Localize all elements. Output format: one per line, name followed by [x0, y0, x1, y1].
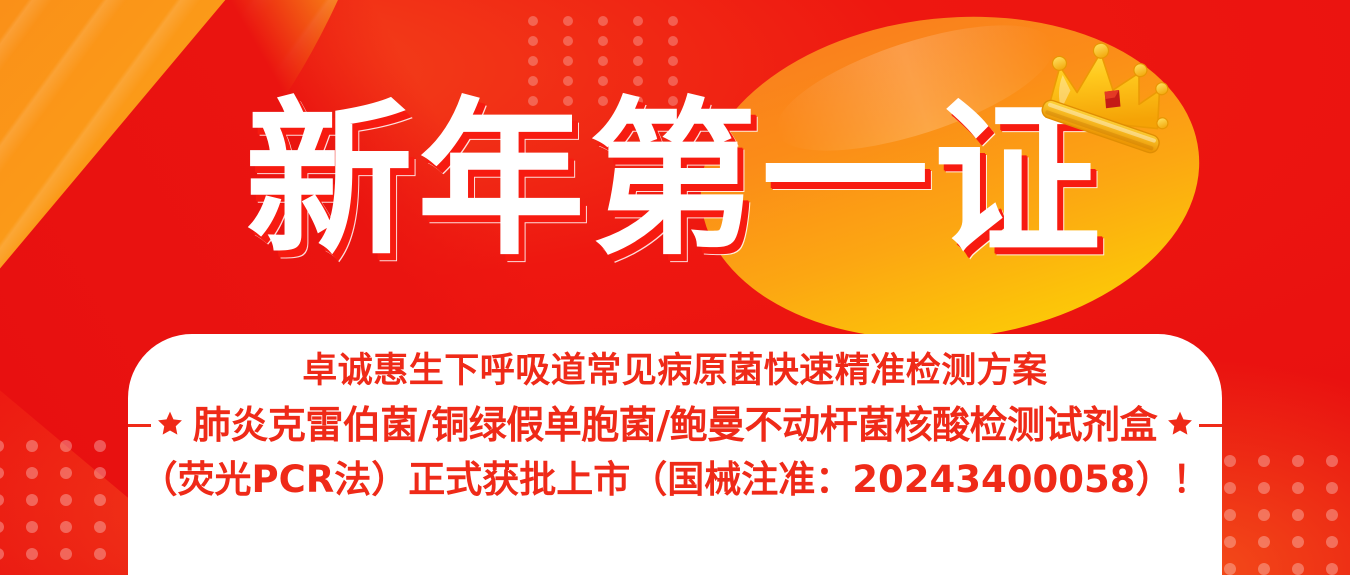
dot-grid-icon-bottom-left — [0, 440, 128, 550]
card-line-2: 肺炎克雷伯菌/铜绿假单胞菌/鲍曼不动杆菌核酸检测试剂盒 — [193, 406, 1157, 444]
star-icon — [1167, 410, 1193, 441]
card-line-2-row: 肺炎克雷伯菌/铜绿假单胞菌/鲍曼不动杆菌核酸检测试剂盒 — [128, 406, 1222, 444]
content-card-inner: 卓诚惠生下呼吸道常见病原菌快速精准检测方案 肺炎克雷伯菌/铜绿假单胞菌/鲍曼不动… — [128, 334, 1222, 575]
card-line-1: 卓诚惠生下呼吸道常见病原菌快速精准检测方案 — [302, 354, 1048, 389]
right-rule — [1199, 424, 1222, 427]
crown-icon — [1026, 32, 1183, 172]
right-star-decoration — [1167, 410, 1222, 441]
content-card: 卓诚惠生下呼吸道常见病原菌快速精准检测方案 肺炎克雷伯菌/铜绿假单胞菌/鲍曼不动… — [128, 334, 1222, 575]
left-star-decoration — [128, 410, 183, 441]
dot-grid-icon-top — [528, 16, 698, 106]
star-icon — [157, 410, 183, 441]
left-rule — [128, 424, 151, 427]
card-line-3: （荧光PCR法）正式获批上市（国械注准：20243400058）！ — [141, 461, 1210, 498]
promo-banner: 新年第一证 — [0, 0, 1350, 575]
